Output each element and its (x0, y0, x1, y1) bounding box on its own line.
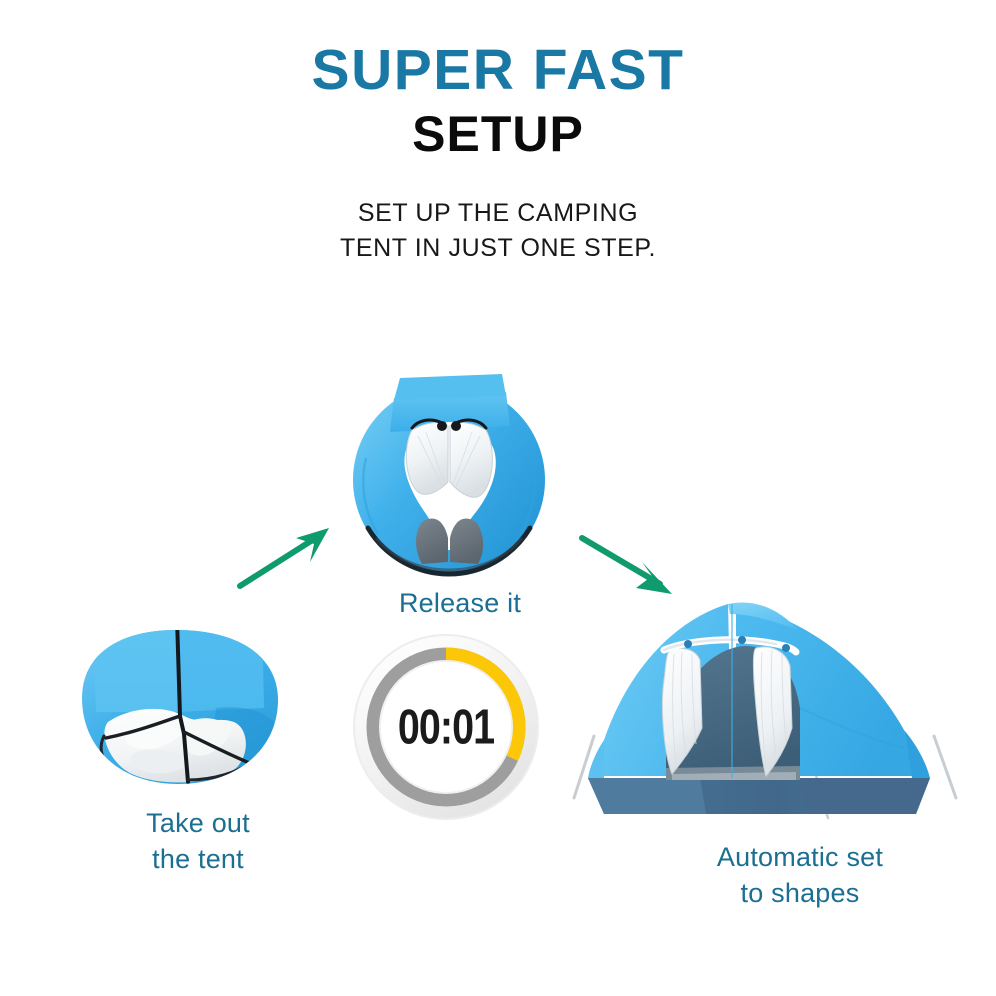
subtitle-line-2: TENT IN JUST ONE STEP. (0, 231, 996, 266)
step-caption-automatic: Automatic set to shapes (620, 840, 980, 911)
page-subtitle: SET UP THE CAMPING TENT IN JUST ONE STEP… (0, 196, 996, 265)
title-line-primary: SUPER FAST (0, 42, 996, 99)
arrow-up-right-icon (236, 524, 340, 595)
release-tent-image (330, 352, 568, 580)
title-line-secondary: SETUP (0, 103, 996, 166)
infographic-canvas: SUPER FAST SETUP SET UP THE CAMPING TENT… (0, 0, 996, 996)
timer-value: 00:01 (358, 616, 535, 838)
page-title: SUPER FAST SETUP (0, 42, 996, 166)
caption-line-2: the tent (48, 842, 348, 878)
caption-line-1: Automatic set (620, 840, 980, 876)
folded-tent-image (66, 612, 298, 802)
assembled-tent-image (560, 588, 970, 830)
step-caption-take-out: Take out the tent (48, 806, 348, 877)
timer-dial: 00:01 (352, 633, 540, 821)
subtitle-line-1: SET UP THE CAMPING (0, 196, 996, 231)
caption-line-2: to shapes (620, 876, 980, 912)
caption-line-1: Take out (48, 806, 348, 842)
